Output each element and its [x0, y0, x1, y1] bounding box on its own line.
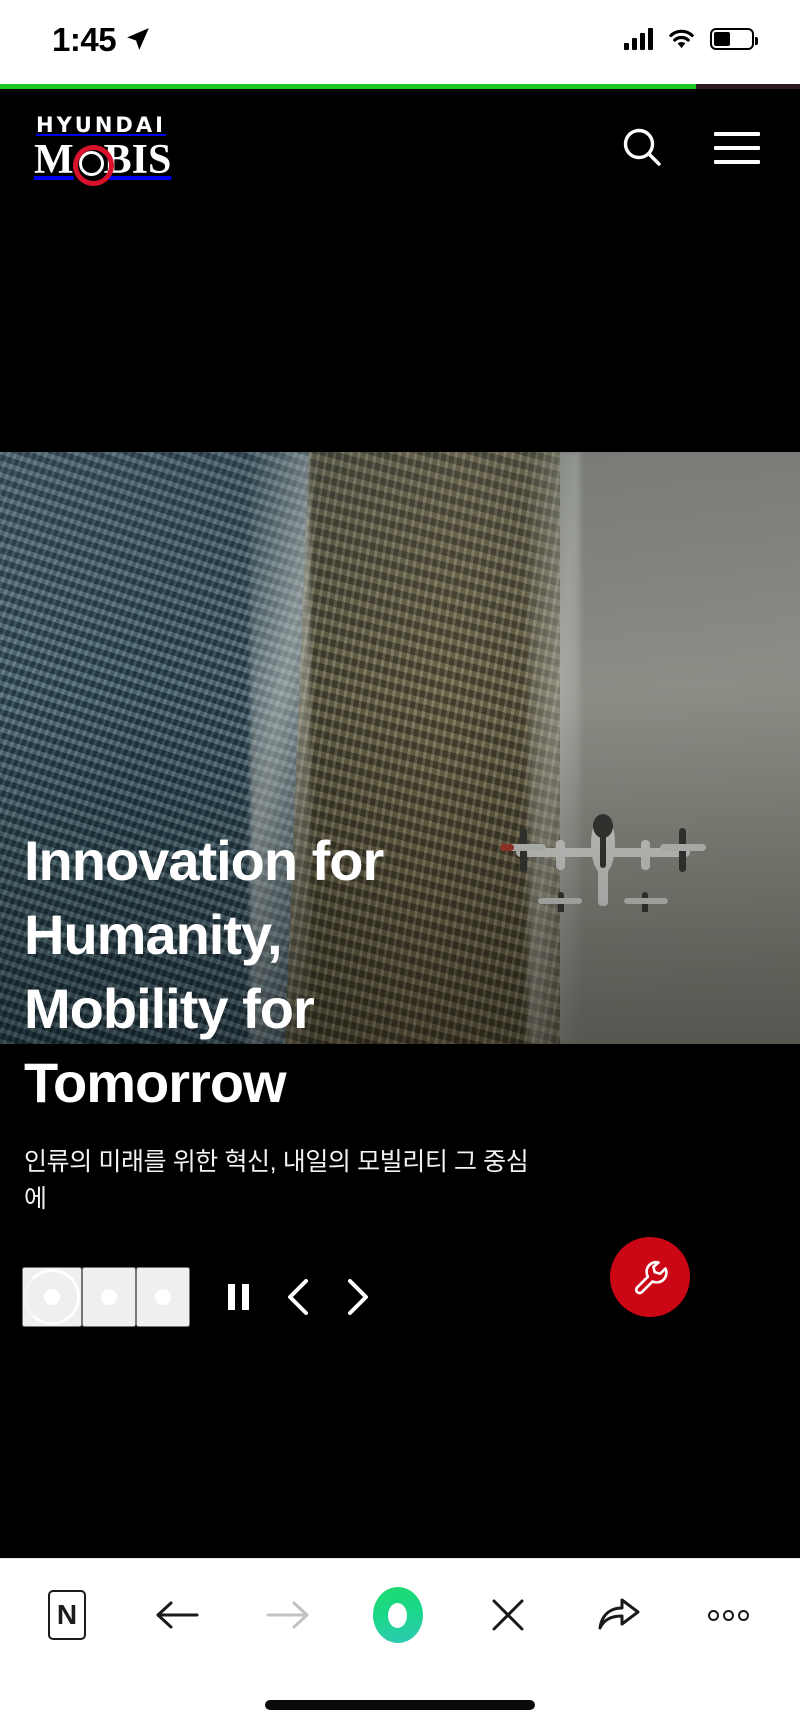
header-actions	[618, 123, 760, 174]
logo-mobis-text: M BIS	[34, 139, 171, 181]
search-icon[interactable]	[618, 123, 666, 174]
naver-home-button[interactable]: N	[30, 1578, 104, 1652]
carousel-next-button[interactable]	[328, 1267, 386, 1327]
home-indicator	[265, 1700, 535, 1710]
battery-icon	[710, 28, 754, 50]
chevron-right-icon	[341, 1276, 373, 1318]
back-arrow-icon	[152, 1595, 202, 1635]
naver-ring-icon	[373, 1587, 423, 1643]
carousel-dot-1-active[interactable]	[22, 1267, 82, 1327]
forward-button[interactable]	[251, 1578, 325, 1652]
carousel-dot-2[interactable]	[82, 1267, 136, 1327]
web-page-content: HYUNDAI M BIS	[0, 89, 800, 1558]
service-wrench-fab[interactable]	[610, 1237, 690, 1317]
wrench-icon	[629, 1256, 671, 1298]
more-button[interactable]	[692, 1578, 766, 1652]
more-options-icon	[708, 1610, 749, 1621]
carousel-controls	[22, 1267, 386, 1327]
share-button[interactable]	[582, 1578, 656, 1652]
chevron-left-icon	[283, 1276, 315, 1318]
status-bar: 1:45	[0, 0, 800, 84]
logo-mobis-bis: BIS	[104, 139, 172, 181]
status-bar-right	[624, 28, 754, 50]
forward-arrow-icon	[263, 1595, 313, 1635]
logo-hyundai-text: HYUNDAI	[36, 115, 171, 136]
site-header: HYUNDAI M BIS	[0, 89, 800, 207]
logo-red-ring-icon	[74, 141, 104, 179]
share-arrow-icon	[595, 1594, 643, 1636]
naver-ring-button[interactable]	[361, 1578, 435, 1652]
carousel-dot-3[interactable]	[136, 1267, 190, 1327]
browser-toolbar-row: N	[0, 1559, 800, 1671]
carousel-progress-ring	[24, 1269, 80, 1325]
phone-screen: 1:45 HYUNDAI M B	[0, 0, 800, 1732]
location-arrow-icon	[125, 26, 151, 52]
carousel-dot-icon	[155, 1289, 171, 1305]
carousel-pause-button[interactable]	[206, 1267, 270, 1327]
hero-title: Innovation for Humanity, Mobility for To…	[24, 824, 584, 1120]
browser-toolbar: N	[0, 1558, 800, 1732]
hero-caption: 인류의 미래를 위한 혁신, 내일의 모빌리티 그 중심에	[24, 1144, 544, 1218]
status-bar-left: 1:45	[52, 23, 151, 56]
close-icon	[487, 1594, 529, 1636]
cellular-signal-icon	[624, 28, 653, 50]
hyundai-mobis-logo[interactable]: HYUNDAI M BIS	[34, 115, 171, 181]
menu-icon[interactable]	[714, 132, 760, 164]
status-time: 1:45	[52, 23, 116, 56]
logo-mobis-m: M	[34, 139, 74, 181]
back-button[interactable]	[140, 1578, 214, 1652]
naver-n-icon: N	[48, 1590, 86, 1640]
carousel-dot-icon	[101, 1289, 117, 1305]
carousel-prev-button[interactable]	[270, 1267, 328, 1327]
stop-button[interactable]	[471, 1578, 545, 1652]
wifi-icon	[667, 28, 696, 50]
